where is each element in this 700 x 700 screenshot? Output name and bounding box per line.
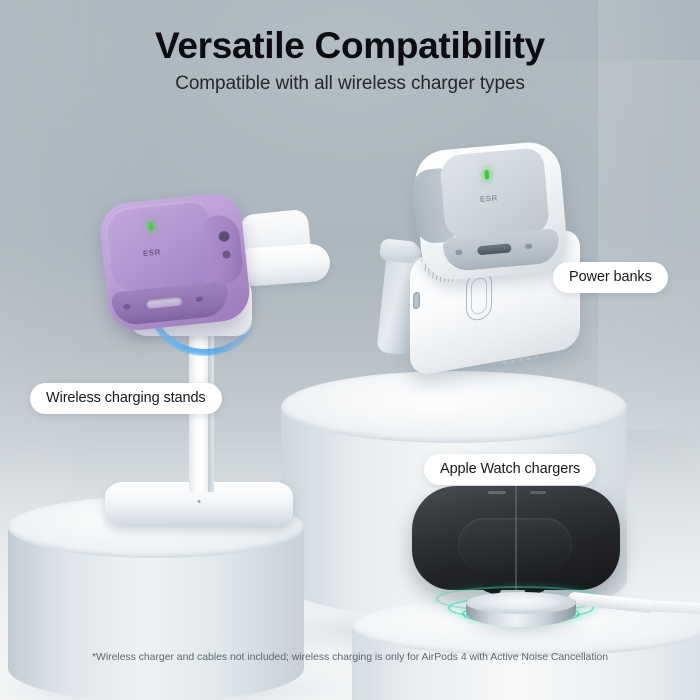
page-title: Versatile Compatibility — [0, 25, 700, 67]
pedestal-left — [8, 496, 304, 700]
airpods-case-purple: ESR — [98, 191, 253, 333]
disclaimer-footnote: *Wireless charger and cables not include… — [0, 651, 700, 663]
power-bank-kickstand-hinge — [379, 238, 419, 264]
apple-watch-charger-product — [400, 486, 640, 636]
status-led-icon — [149, 222, 154, 230]
page-subtitle: Compatible with all wireless charger typ… — [0, 73, 700, 95]
power-bank-product: ESR — [388, 146, 588, 376]
callout-wireless-charging-stands: Wireless charging stands — [30, 383, 222, 414]
brand-logo: ESR — [480, 193, 499, 204]
case-vent-right — [530, 491, 546, 494]
power-bank-usb-c-port-icon — [413, 291, 420, 309]
case-seam-line — [515, 486, 517, 590]
case-side-panel — [203, 213, 244, 286]
apple-watch-charging-puck — [466, 592, 576, 626]
puck-charging-surface — [482, 595, 560, 610]
wireless-charging-stand-product: ESR — [96, 196, 326, 526]
product-scene: ESR ESR — [0, 0, 700, 700]
callout-power-banks: Power banks — [553, 262, 668, 293]
callout-apple-watch-chargers: Apple Watch chargers — [424, 454, 596, 485]
airpods-case-black — [412, 486, 620, 590]
brand-logo: ESR — [142, 247, 161, 258]
status-led-icon — [484, 170, 489, 179]
airpods-case-white: ESR — [413, 140, 570, 282]
case-vent-left — [488, 491, 506, 494]
pedestal-middle-top — [281, 371, 627, 443]
